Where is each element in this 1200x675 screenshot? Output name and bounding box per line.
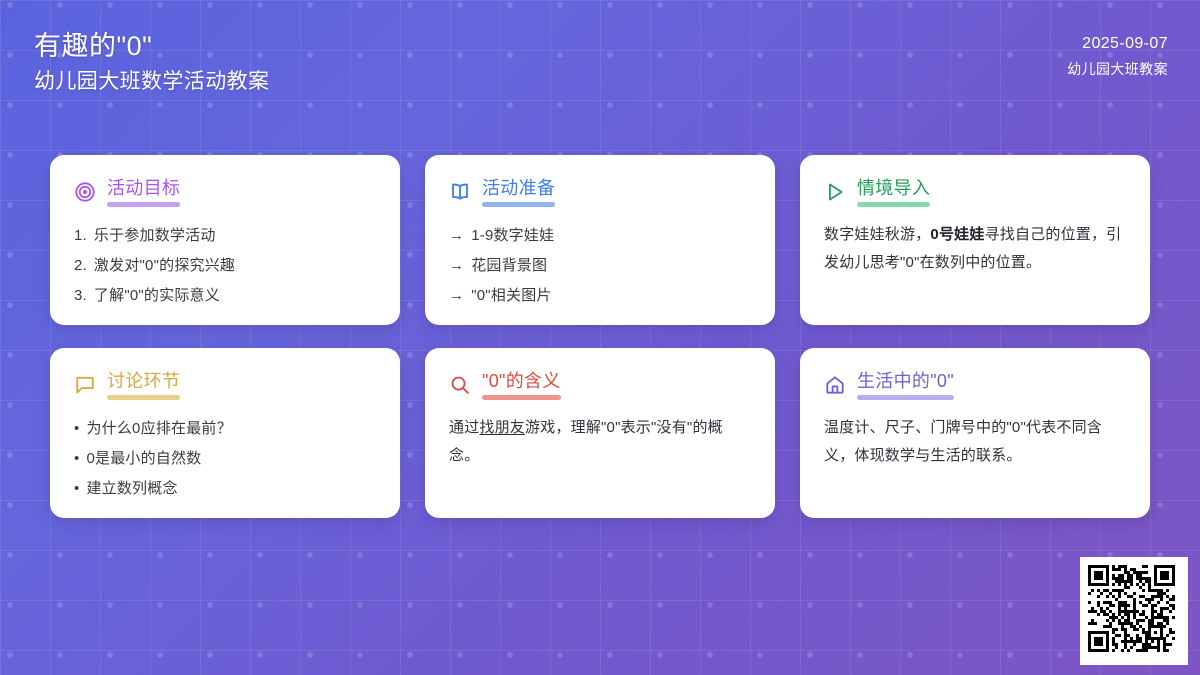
- card-header: 活动准备: [449, 177, 751, 207]
- list-marker: →: [449, 221, 464, 251]
- card-header: 生活中的"0": [824, 370, 1126, 400]
- list-item-text: 0是最小的自然数: [86, 444, 201, 474]
- card-title: 情境导入: [857, 177, 930, 199]
- card-body: 数字娃娃秋游，0号娃娃寻找自己的位置，引发幼儿思考"0"在数列中的位置。: [824, 221, 1126, 277]
- card-header: 讨论环节: [74, 370, 376, 400]
- card-title-wrap: 情境导入: [857, 177, 930, 207]
- paragraph-segment: 找朋友: [479, 419, 525, 436]
- card-discussion-session[interactable]: 讨论环节•为什么0应排在最前？•0是最小的自然数•建立数列概念: [50, 348, 400, 518]
- card-body: →1-9数字娃娃→花园背景图→"0"相关图片: [449, 221, 751, 311]
- card-activity-preparation[interactable]: 活动准备→1-9数字娃娃→花园背景图→"0"相关图片: [425, 155, 775, 325]
- list-item-text: 为什么0应排在最前？: [86, 414, 231, 444]
- card-title-underline: [107, 395, 180, 400]
- card-title-wrap: 生活中的"0": [857, 370, 954, 400]
- qr-code[interactable]: [1080, 557, 1188, 665]
- list-item: 2.激发对"0"的探究兴趣: [74, 251, 376, 281]
- card-title: 生活中的"0": [857, 370, 954, 392]
- title-block: 有趣的"0" 幼儿园大班数学活动教案: [34, 28, 269, 98]
- list-item-text: 激发对"0"的探究兴趣: [94, 251, 235, 281]
- slide-header: 有趣的"0" 幼儿园大班数学活动教案 2025-09-07 幼儿园大班教案: [0, 0, 1200, 128]
- play-icon: [824, 181, 846, 203]
- card-title-underline: [482, 202, 555, 207]
- card-title-underline: [857, 395, 954, 400]
- card-body: 1.乐于参加数学活动2.激发对"0"的探究兴趣3.了解"0"的实际意义: [74, 221, 376, 311]
- list-item: →花园背景图: [449, 251, 751, 281]
- target-icon: [74, 181, 96, 203]
- list-marker: →: [449, 281, 464, 311]
- list-item: •0是最小的自然数: [74, 444, 376, 474]
- date-label: 2025-09-07: [1067, 32, 1168, 55]
- card-title-underline: [107, 202, 180, 207]
- list-marker: •: [74, 414, 79, 444]
- card-title-underline: [482, 395, 561, 400]
- card-paragraph: 温度计、尺子、门牌号中的"0"代表不同含义，体现数学与生活的联系。: [824, 414, 1126, 470]
- list-item-text: 花园背景图: [471, 251, 547, 281]
- list-item: •为什么0应排在最前？: [74, 414, 376, 444]
- card-title: 活动准备: [482, 177, 555, 199]
- card-header: 情境导入: [824, 177, 1126, 207]
- list-item: 1.乐于参加数学活动: [74, 221, 376, 251]
- list-item: →1-9数字娃娃: [449, 221, 751, 251]
- card-title-wrap: 讨论环节: [107, 370, 180, 400]
- list-marker: 3.: [74, 281, 87, 311]
- list-marker: •: [74, 474, 79, 504]
- card-scenario-intro[interactable]: 情境导入数字娃娃秋游，0号娃娃寻找自己的位置，引发幼儿思考"0"在数列中的位置。: [800, 155, 1150, 325]
- list-item: 3.了解"0"的实际意义: [74, 281, 376, 311]
- page-title: 有趣的"0": [34, 28, 269, 64]
- list-item-text: 1-9数字娃娃: [471, 221, 554, 251]
- card-title-wrap: "0"的含义: [482, 370, 561, 400]
- list-marker: →: [449, 251, 464, 281]
- card-title: 讨论环节: [107, 370, 180, 392]
- book-icon: [449, 181, 471, 203]
- card-paragraph: 数字娃娃秋游，0号娃娃寻找自己的位置，引发幼儿思考"0"在数列中的位置。: [824, 221, 1126, 277]
- list-item-text: 建立数列概念: [86, 474, 177, 504]
- card-title: "0"的含义: [482, 370, 561, 392]
- paragraph-segment: 温度计、尺子、门牌号中的"0"代表不同含义，体现数学与生活的联系。: [824, 419, 1102, 464]
- card-title-wrap: 活动准备: [482, 177, 555, 207]
- paragraph-segment: 0号娃娃: [930, 226, 984, 243]
- page-subtitle: 幼儿园大班数学活动教案: [34, 66, 269, 98]
- qr-code-image: [1088, 565, 1180, 657]
- slide-root: 有趣的"0" 幼儿园大班数学活动教案 2025-09-07 幼儿园大班教案 活动…: [0, 0, 1200, 675]
- list-item: •建立数列概念: [74, 474, 376, 504]
- card-header: "0"的含义: [449, 370, 751, 400]
- card-header: 活动目标: [74, 177, 376, 207]
- list-marker: 2.: [74, 251, 87, 281]
- list-item-text: 乐于参加数学活动: [94, 221, 216, 251]
- home-icon: [824, 374, 846, 396]
- card-body: 通过找朋友游戏，理解"0"表示"没有"的概念。: [449, 414, 751, 470]
- search-icon: [449, 374, 471, 396]
- list-item-text: 了解"0"的实际意义: [94, 281, 220, 311]
- card-grid: 活动目标1.乐于参加数学活动2.激发对"0"的探究兴趣3.了解"0"的实际意义活…: [50, 155, 1150, 518]
- speech-bubble-icon: [74, 374, 96, 396]
- card-paragraph: 通过找朋友游戏，理解"0"表示"没有"的概念。: [449, 414, 751, 470]
- card-body: 温度计、尺子、门牌号中的"0"代表不同含义，体现数学与生活的联系。: [824, 414, 1126, 470]
- card-meaning-of-zero[interactable]: "0"的含义通过找朋友游戏，理解"0"表示"没有"的概念。: [425, 348, 775, 518]
- card-activity-goals[interactable]: 活动目标1.乐于参加数学活动2.激发对"0"的探究兴趣3.了解"0"的实际意义: [50, 155, 400, 325]
- card-title-wrap: 活动目标: [107, 177, 180, 207]
- card-body: •为什么0应排在最前？•0是最小的自然数•建立数列概念: [74, 414, 376, 504]
- card-zero-in-life[interactable]: 生活中的"0"温度计、尺子、门牌号中的"0"代表不同含义，体现数学与生活的联系。: [800, 348, 1150, 518]
- list-item: →"0"相关图片: [449, 281, 751, 311]
- document-type-label: 幼儿园大班教案: [1067, 58, 1168, 80]
- card-title-underline: [857, 202, 930, 207]
- header-meta: 2025-09-07 幼儿园大班教案: [1067, 32, 1168, 80]
- list-item-text: "0"相关图片: [471, 281, 551, 311]
- list-marker: 1.: [74, 221, 87, 251]
- paragraph-segment: 数字娃娃秋游，: [824, 226, 930, 243]
- card-title: 活动目标: [107, 177, 180, 199]
- paragraph-segment: 通过: [449, 419, 479, 436]
- list-marker: •: [74, 444, 79, 474]
